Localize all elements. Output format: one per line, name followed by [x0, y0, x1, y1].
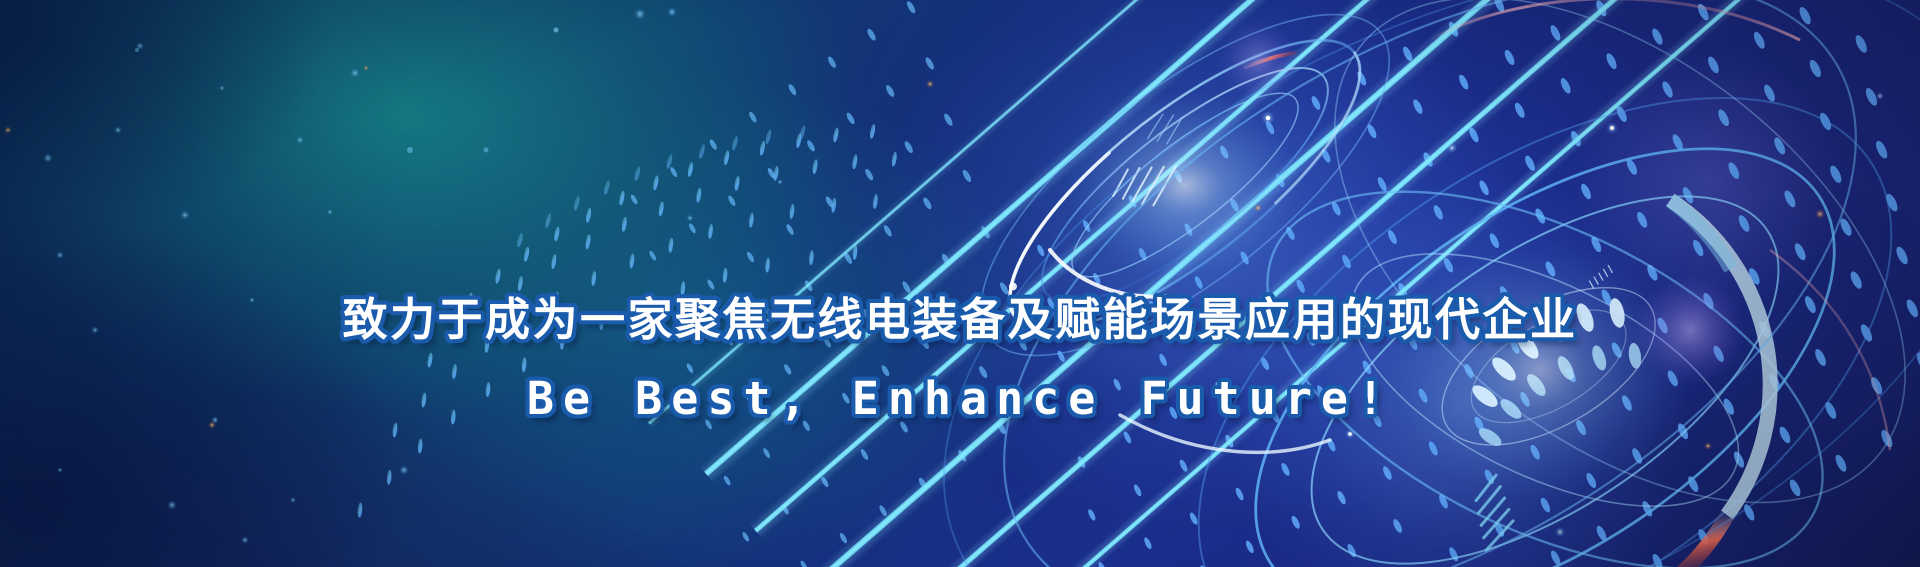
background-gradient-shadow	[0, 0, 1920, 567]
hud-tick-marks	[1092, 105, 1215, 221]
diagonal-light-beam	[645, 0, 1812, 567]
page-tagline-english: Be Best, Enhance Future!	[0, 368, 1920, 430]
hero-text-block: 致力于成为一家聚焦无线电装备及赋能场景应用的现代企业 Be Best, Enha…	[0, 292, 1920, 430]
background-vignette	[0, 0, 1920, 567]
background-gradient-base	[0, 0, 1920, 567]
tech-orbital-graphic	[0, 0, 1920, 567]
hero-banner: 致力于成为一家聚焦无线电装备及赋能场景应用的现代企业 Be Best, Enha…	[0, 0, 1920, 567]
background-glow-accent	[0, 0, 1920, 567]
hud-radial-dial	[1100, 0, 1920, 567]
particle-dot-field	[0, 0, 1920, 567]
bokeh-glow-dot	[4, 7, 783, 544]
orbital-ellipse-ring	[836, 0, 1920, 567]
particle-dot-field	[542, 0, 1920, 567]
page-title-chinese: 致力于成为一家聚焦无线电装备及赋能场景应用的现代企业	[0, 292, 1920, 348]
